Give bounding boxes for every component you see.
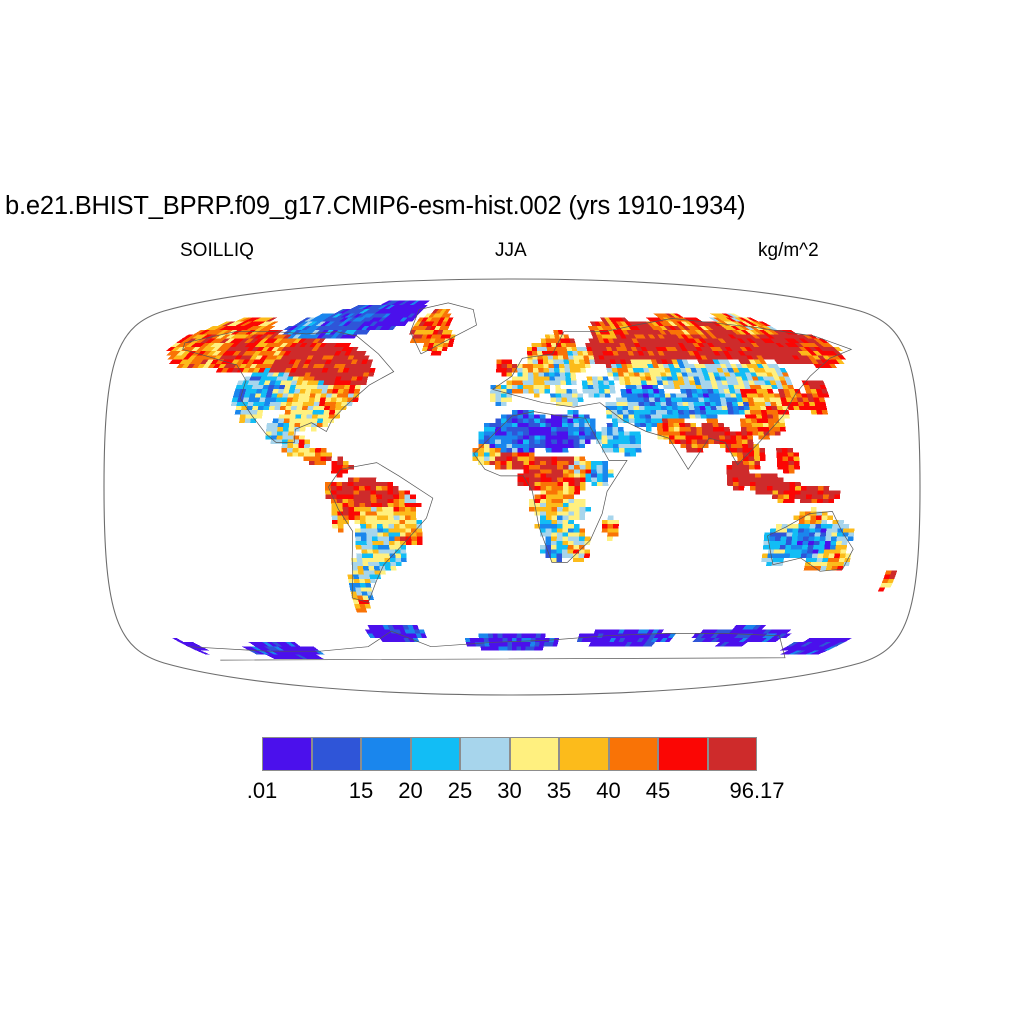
colorbar-tick: 25 xyxy=(448,778,472,804)
figure-title: b.e21.BHIST_BPRP.f09_g17.CMIP6-esm-hist.… xyxy=(5,192,1019,221)
colorbar-segment xyxy=(262,737,312,771)
colorbar-tick: 35 xyxy=(547,778,571,804)
colorbar-tick: 15 xyxy=(349,778,373,804)
colorbar-segment xyxy=(411,737,461,771)
season-label: JJA xyxy=(495,240,527,262)
map-data-layer xyxy=(100,277,924,697)
colorbar-segment xyxy=(609,737,659,771)
colorbar-segment xyxy=(460,737,510,771)
colorbar xyxy=(262,737,757,771)
colorbar-segment xyxy=(312,737,362,771)
colorbar-tick: 45 xyxy=(646,778,670,804)
colorbar-segment xyxy=(361,737,411,771)
colorbar-tick: 20 xyxy=(398,778,422,804)
colorbar-tick-labels: .011520253035404596.17 xyxy=(200,778,840,806)
colorbar-segment xyxy=(510,737,560,771)
colorbar-segment xyxy=(708,737,758,771)
colorbar-tick: 40 xyxy=(596,778,620,804)
colorbar-tick: .01 xyxy=(247,778,278,804)
variable-label: SOILLIQ xyxy=(180,240,254,262)
colorbar-segment xyxy=(658,737,708,771)
colorbar-tick: 96.17 xyxy=(729,778,784,804)
world-map xyxy=(100,277,924,697)
colorbar-tick: 30 xyxy=(497,778,521,804)
units-label: kg/m^2 xyxy=(758,240,819,262)
colorbar-segment xyxy=(559,737,609,771)
figure-canvas: b.e21.BHIST_BPRP.f09_g17.CMIP6-esm-hist.… xyxy=(0,0,1024,1024)
map-svg xyxy=(100,277,924,697)
